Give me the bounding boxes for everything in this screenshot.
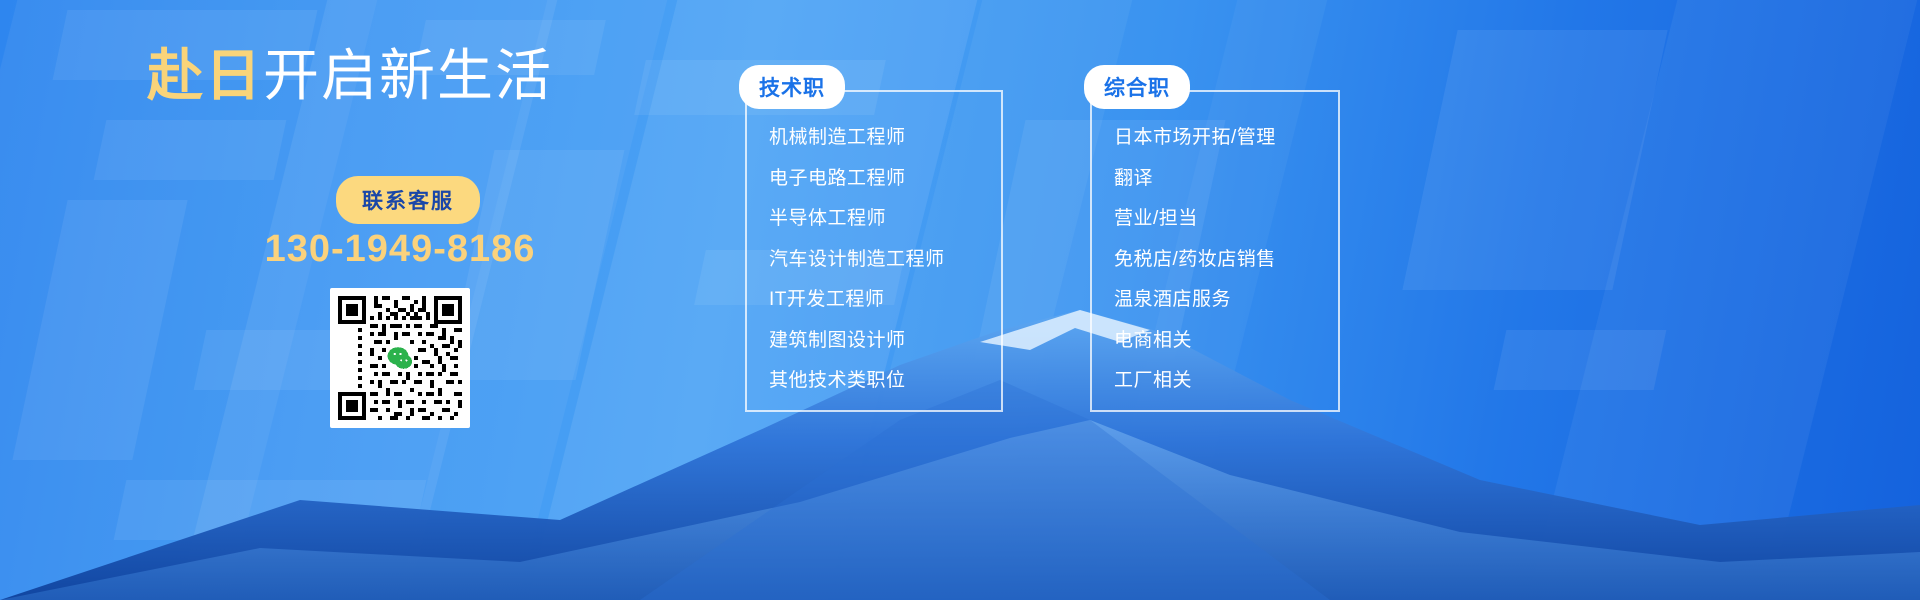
- list-item[interactable]: 汽车设计制造工程师: [769, 240, 1001, 281]
- list-item[interactable]: 营业/担当: [1114, 199, 1338, 240]
- phone-number: 130-1949-8186: [0, 228, 800, 271]
- promo-banner: 赴日开启新生活 联系客服 130-1949-8186: [0, 0, 1920, 600]
- watermark-shape: [1494, 330, 1667, 390]
- list-item[interactable]: 免税店/药妆店销售: [1114, 240, 1338, 281]
- list-item[interactable]: 温泉酒店服务: [1114, 280, 1338, 321]
- qr-code-icon: [334, 292, 466, 424]
- technical-job-list: 机械制造工程师 电子电路工程师 半导体工程师 汽车设计制造工程师 IT开发工程师…: [747, 92, 1001, 402]
- contact-customer-service-button[interactable]: 联系客服: [336, 176, 480, 224]
- watermark-shape: [1402, 30, 1667, 290]
- list-item[interactable]: 机械制造工程师: [769, 118, 1001, 159]
- list-item[interactable]: 工厂相关: [1114, 361, 1338, 402]
- page-title: 赴日开启新生活: [0, 48, 700, 104]
- general-job-list: 日本市场开拓/管理 翻译 营业/担当 免税店/药妆店销售 温泉酒店服务 电商相关…: [1092, 92, 1338, 402]
- job-category-technical: 技术职 机械制造工程师 电子电路工程师 半导体工程师 汽车设计制造工程师 IT开…: [745, 90, 1003, 412]
- decorative-slab: [1508, 0, 1920, 600]
- list-item[interactable]: 其他技术类职位: [769, 361, 1001, 402]
- left-content-column: 赴日开启新生活 联系客服 130-1949-8186: [0, 0, 700, 600]
- list-item[interactable]: 翻译: [1114, 159, 1338, 200]
- list-item[interactable]: 日本市场开拓/管理: [1114, 118, 1338, 159]
- wechat-qr-code[interactable]: [330, 288, 470, 428]
- list-item[interactable]: 电商相关: [1114, 321, 1338, 362]
- headline-accent-text: 赴日: [147, 44, 263, 107]
- list-item[interactable]: 建筑制图设计师: [769, 321, 1001, 362]
- list-item[interactable]: 电子电路工程师: [769, 159, 1001, 200]
- badge-general: 综合职: [1084, 65, 1190, 109]
- badge-technical: 技术职: [739, 65, 845, 109]
- job-category-general: 综合职 日本市场开拓/管理 翻译 营业/担当 免税店/药妆店销售 温泉酒店服务 …: [1090, 90, 1340, 412]
- list-item[interactable]: 半导体工程师: [769, 199, 1001, 240]
- headline-rest-text: 开启新生活: [263, 44, 553, 107]
- list-item[interactable]: IT开发工程师: [769, 280, 1001, 321]
